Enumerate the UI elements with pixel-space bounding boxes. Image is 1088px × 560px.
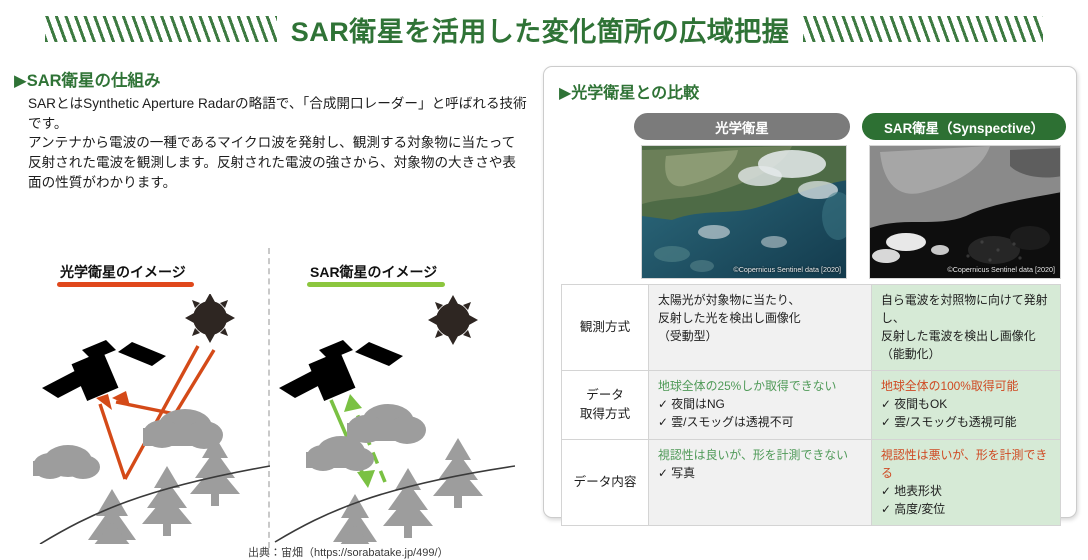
table-row: 観測方式 太陽光が対象物に当たり、 反射した光を検出し画像化 （受動型） 自ら電… bbox=[562, 285, 1061, 371]
column-header-pills: 光学衛星 SAR衛星（Synspective） bbox=[544, 113, 1078, 143]
pill-optical-satellite: 光学衛星 bbox=[634, 113, 850, 140]
cell-optical-observation: 太陽光が対象物に当たり、 反射した光を検出し画像化 （受動型） bbox=[649, 285, 872, 371]
cell-bullet: ✓ 写真 bbox=[658, 465, 862, 483]
caption-sar-underline bbox=[307, 282, 445, 287]
cell-lead: 地球全体の100%取得可能 bbox=[881, 378, 1051, 396]
optical-satellite-photo: ©Copernicus Sentinel data [2020] bbox=[641, 145, 847, 279]
row-label-data-content: データ内容 bbox=[562, 440, 649, 526]
hatch-decoration-left bbox=[45, 16, 277, 42]
left-section: ▶SAR衛星の仕組み SARとはSynthetic Aperture Radar… bbox=[0, 58, 540, 536]
cell-optical-acquisition: 地球全体の25%しか取得できない ✓ 夜間はNG ✓ 雲/スモッグは透視不可 bbox=[649, 371, 872, 440]
left-paragraph-1: SARとはSynthetic Aperture Radarの略語で、「合成開口レ… bbox=[28, 94, 528, 133]
cell-line: （能動化） bbox=[881, 346, 1051, 364]
cell-sar-content: 視認性は悪いが、形を計測できる ✓ 地表形状 ✓ 高度/変位 bbox=[872, 440, 1061, 526]
caption-sar-label: SAR衛星のイメージ bbox=[310, 264, 437, 280]
sar-satellite-diagram bbox=[265, 294, 515, 544]
table-row: データ内容 視認性は良いが、形を計測できない ✓ 写真 視認性は悪いが、形を計測… bbox=[562, 440, 1061, 526]
satellite-icon bbox=[279, 340, 403, 401]
satellite-photos: ©Copernicus Sentinel data [2020] ©Cop bbox=[544, 145, 1078, 281]
cell-lead: 視認性は良いが、形を計測できない bbox=[658, 447, 862, 465]
table-row: データ 取得方式 地球全体の25%しか取得できない ✓ 夜間はNG ✓ 雲/スモ… bbox=[562, 371, 1061, 440]
source-credit: 出典：宙畑（https://sorabatake.jp/499/） bbox=[248, 544, 449, 560]
left-paragraph-2: アンテナから電波の一種であるマイクロ波を発射し、観測する対象物に当たって反射され… bbox=[28, 133, 528, 192]
cell-line: 反射した光を検出し画像化 bbox=[658, 310, 862, 328]
left-body-copy: SARとはSynthetic Aperture Radarの略語で、「合成開口レ… bbox=[28, 94, 528, 193]
cell-bullet: ✓ 夜間もOK bbox=[881, 396, 1051, 414]
cell-bullet: ✓ 高度/変位 bbox=[881, 501, 1051, 519]
cell-lead: 視認性は悪いが、形を計測できる bbox=[881, 447, 1051, 483]
cell-bullet: ✓ 雲/スモッグも透視可能 bbox=[881, 414, 1051, 432]
caption-sar-satellite: SAR衛星のイメージ bbox=[310, 262, 437, 282]
satellite-icon bbox=[42, 340, 166, 401]
cell-bullet: ✓ 雲/スモッグは透視不可 bbox=[658, 414, 862, 432]
cell-sar-acquisition: 地球全体の100%取得可能 ✓ 夜間もOK ✓ 雲/スモッグも透視可能 bbox=[872, 371, 1061, 440]
cell-line: 自ら電波を対照物に向けて発射し、 bbox=[881, 292, 1051, 328]
reflection-arrowhead-2 bbox=[96, 394, 112, 410]
left-section-heading: ▶SAR衛星の仕組み bbox=[14, 67, 161, 91]
optical-photo-graphic bbox=[642, 146, 847, 279]
cell-bullet: ✓ 夜間はNG bbox=[658, 396, 862, 414]
cell-line: 太陽光が対象物に当たり、 bbox=[658, 292, 862, 310]
caption-optical-label: 光学衛星のイメージ bbox=[60, 264, 186, 280]
hatch-decoration-right bbox=[803, 16, 1043, 42]
row-label-line: 取得方式 bbox=[566, 405, 644, 424]
sar-photo-graphic bbox=[870, 146, 1061, 279]
page-title: SAR衛星を活用した変化箇所の広域把握 bbox=[291, 10, 790, 49]
cloud-icon-small bbox=[33, 445, 100, 479]
cell-bullet: ✓ 地表形状 bbox=[881, 483, 1051, 501]
cell-optical-content: 視認性は良いが、形を計測できない ✓ 写真 bbox=[649, 440, 872, 526]
sar-photo-watermark: ©Copernicus Sentinel data [2020] bbox=[947, 265, 1055, 274]
caption-optical-underline bbox=[57, 282, 194, 287]
cell-sar-observation: 自ら電波を対照物に向けて発射し、 反射した電波を検出し画像化 （能動化） bbox=[872, 285, 1061, 371]
cell-lead: 地球全体の25%しか取得できない bbox=[658, 378, 862, 396]
row-label-line: データ bbox=[566, 386, 644, 405]
sar-satellite-photo: ©Copernicus Sentinel data [2020] bbox=[869, 145, 1061, 279]
cloud-icon-large bbox=[347, 404, 426, 444]
optical-photo-watermark: ©Copernicus Sentinel data [2020] bbox=[733, 265, 841, 274]
sun-icon bbox=[428, 295, 478, 345]
comparison-card: ▶光学衛星との比較 光学衛星 SAR衛星（Synspective） bbox=[543, 66, 1077, 518]
caption-optical-satellite: 光学衛星のイメージ bbox=[60, 262, 186, 282]
row-label-observation-method: 観測方式 bbox=[562, 285, 649, 371]
row-label-data-acquisition: データ 取得方式 bbox=[562, 371, 649, 440]
pill-sar-satellite: SAR衛星（Synspective） bbox=[862, 113, 1066, 140]
sun-icon bbox=[185, 294, 235, 343]
comparison-heading: ▶光学衛星との比較 bbox=[559, 79, 699, 103]
cell-line: 反射した電波を検出し画像化 bbox=[881, 328, 1051, 346]
slide-title-bar: SAR衛星を活用した変化箇所の広域把握 bbox=[0, 0, 1088, 58]
optical-satellite-diagram bbox=[20, 294, 270, 544]
cell-line: （受動型） bbox=[658, 328, 862, 346]
comparison-table: 観測方式 太陽光が対象物に当たり、 反射した光を検出し画像化 （受動型） 自ら電… bbox=[561, 284, 1061, 526]
